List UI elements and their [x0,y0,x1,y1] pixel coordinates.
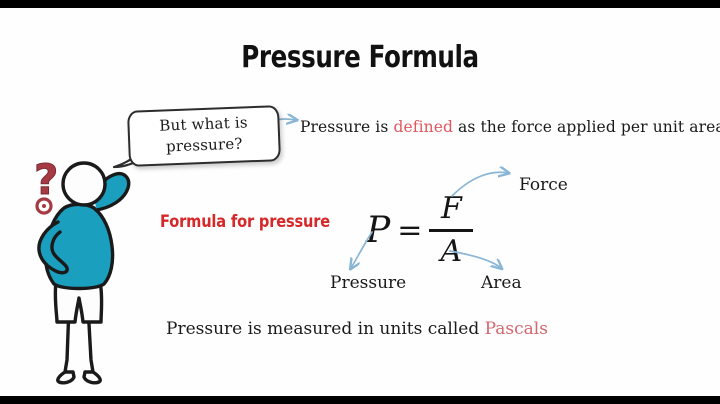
formula-denominator-a: A [441,235,463,267]
formula-fraction-bar [429,229,473,232]
pressure-formula: P = F A [366,194,473,267]
letterbox-bar-bottom [0,396,720,404]
definition-after: as the force applied per unit area. [453,118,720,136]
formula-equals-sign: = [397,213,422,248]
letterbox-bar-top [0,0,720,8]
units-before: Pressure is measured in units called [166,319,485,339]
definition-highlight: defined [393,118,453,136]
label-pressure: Pressure [330,273,406,293]
question-mark-icon: ? [34,155,58,213]
formula-variable-p: P [366,210,390,251]
slide-canvas: Pressure Formula But what is [0,8,720,396]
formula-fraction: F A [429,194,473,267]
formula-caption: Formula for pressure [160,212,330,232]
video-player: Pressure Formula But what is [0,0,720,404]
speech-bubble-text: But what is pressure? [129,111,279,159]
svg-text:?: ? [34,155,58,204]
units-highlight: Pascals [485,319,548,339]
page-title: Pressure Formula [65,40,655,75]
units-text: Pressure is measured in units called Pas… [166,319,548,339]
speech-bubble: But what is pressure? [127,105,281,167]
definition-text: Pressure is defined as the force applied… [300,118,720,136]
definition-before: Pressure is [300,118,393,136]
speech-bubble-line-2: pressure? [130,132,279,159]
character-illustration: ? [12,146,152,388]
label-force: Force [519,175,568,195]
label-area: Area [481,273,522,293]
formula-numerator-f: F [441,194,462,226]
